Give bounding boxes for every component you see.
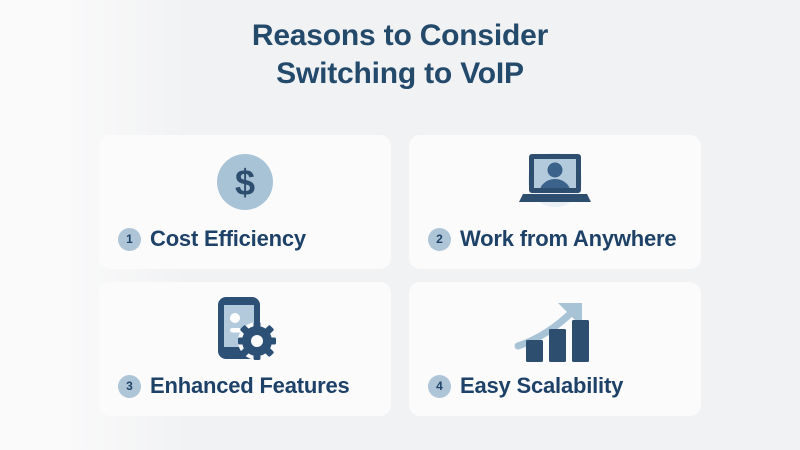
card-number-badge: 3 <box>118 375 141 398</box>
card-label: Work from Anywhere <box>460 226 676 252</box>
card-label-row: 1 Cost Efficiency <box>118 226 306 252</box>
laptop-person-icon <box>409 146 701 218</box>
phone-gear-icon <box>99 293 391 365</box>
page-title: Reasons to Consider Switching to VoIP <box>0 17 800 93</box>
svg-text:$: $ <box>235 162 255 203</box>
page-title-line-1: Reasons to Consider <box>0 17 800 55</box>
card-number-badge: 1 <box>118 228 141 251</box>
card-number-badge: 2 <box>428 228 451 251</box>
card-label-row: 2 Work from Anywhere <box>428 226 676 252</box>
reasons-card-grid: $ 1 Cost Efficiency <box>99 135 701 416</box>
card-work-from-anywhere[interactable]: 2 Work from Anywhere <box>409 135 701 269</box>
infographic-page: Reasons to Consider Switching to VoIP $ … <box>0 0 800 450</box>
card-label-row: 4 Easy Scalability <box>428 373 623 399</box>
card-label: Easy Scalability <box>460 373 623 399</box>
card-easy-scalability[interactable]: 4 Easy Scalability <box>409 282 701 416</box>
growth-bar-chart-icon <box>409 293 701 365</box>
card-cost-efficiency[interactable]: $ 1 Cost Efficiency <box>99 135 391 269</box>
card-label: Enhanced Features <box>150 373 350 399</box>
page-title-line-2: Switching to VoIP <box>0 55 800 93</box>
card-number-badge: 4 <box>428 375 451 398</box>
dollar-circle-icon: $ <box>99 146 391 218</box>
card-enhanced-features[interactable]: 3 Enhanced Features <box>99 282 391 416</box>
card-label: Cost Efficiency <box>150 226 306 252</box>
card-label-row: 3 Enhanced Features <box>118 373 350 399</box>
